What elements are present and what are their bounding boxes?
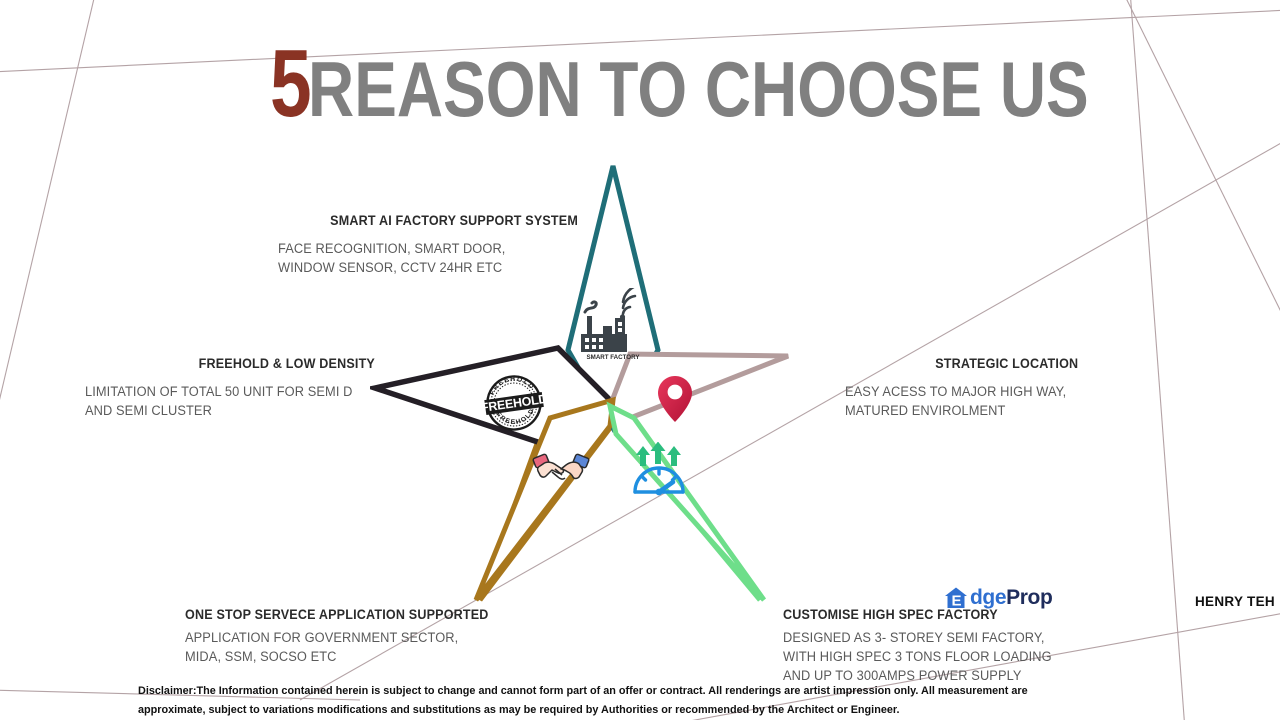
title-number: 5 bbox=[270, 36, 311, 132]
slide-canvas: 5 REASON TO CHOOSE US bbox=[0, 0, 1280, 720]
smart-factory-icon: SMART FACTORY bbox=[573, 288, 653, 360]
smart-factory-icon-caption: SMART FACTORY bbox=[587, 354, 641, 360]
edgeprop-house-icon: E bbox=[944, 586, 968, 610]
bg-line-2 bbox=[0, 0, 96, 440]
freehold-stamp-icon: FREEHOLD FREEHOLD FREEHOLD bbox=[478, 372, 550, 434]
reason-description: APPLICATION FOR GOVERNMENT SECTOR, MIDA,… bbox=[185, 628, 470, 666]
handshake-icon bbox=[530, 445, 592, 497]
reason-title: FREEHOLD & LOW DENSITY bbox=[105, 355, 375, 373]
reason-block-one-stop-service: ONE STOP SERVECE APPLICATION SUPPORTED A… bbox=[185, 606, 485, 666]
reason-description: DESIGNED AS 3- STOREY SEMI FACTORY, WITH… bbox=[783, 628, 1078, 685]
title-text: REASON TO CHOOSE US bbox=[308, 50, 1089, 128]
page-title: 5 REASON TO CHOOSE US bbox=[270, 36, 1260, 132]
edgeprop-logo[interactable]: E dgeProp bbox=[944, 586, 1052, 610]
map-pin-icon bbox=[652, 372, 698, 428]
dart-right[interactable] bbox=[610, 354, 788, 422]
performance-gauge-icon bbox=[628, 442, 690, 500]
reason-block-customise-high-spec: CUSTOMISE HIGH SPEC FACTORY DESIGNED AS … bbox=[783, 606, 1093, 685]
reason-description: FACE RECOGNITION, SMART DOOR, WINDOW SEN… bbox=[278, 239, 563, 277]
reason-block-smart-ai-factory: SMART AI FACTORY SUPPORT SYSTEM FACE REC… bbox=[278, 212, 578, 277]
agent-name: HENRY TEH bbox=[1195, 594, 1275, 609]
disclaimer-text: Disclaimer:The Information contained her… bbox=[138, 682, 1088, 719]
reason-title: SMART AI FACTORY SUPPORT SYSTEM bbox=[299, 212, 578, 230]
edgeprop-word-dge: dge bbox=[970, 586, 1006, 609]
reason-description: LIMITATION OF TOTAL 50 UNIT FOR SEMI D A… bbox=[85, 382, 361, 420]
reason-block-freehold: FREEHOLD & LOW DENSITY LIMITATION OF TOT… bbox=[85, 355, 375, 420]
edgeprop-wordmark: dgeProp bbox=[970, 586, 1052, 610]
reason-title: ONE STOP SERVECE APPLICATION SUPPORTED bbox=[185, 606, 464, 624]
svg-text:E: E bbox=[951, 593, 961, 610]
reason-description: EASY ACESS TO MAJOR HIGH WAY, MATURED EN… bbox=[845, 382, 1121, 420]
reason-block-strategic-location: STRATEGIC LOCATION EASY ACESS TO MAJOR H… bbox=[845, 355, 1135, 420]
dart-bottom-right[interactable] bbox=[610, 406, 764, 600]
reason-title: STRATEGIC LOCATION bbox=[845, 355, 1115, 373]
edgeprop-word-prop: Prop bbox=[1006, 586, 1052, 609]
